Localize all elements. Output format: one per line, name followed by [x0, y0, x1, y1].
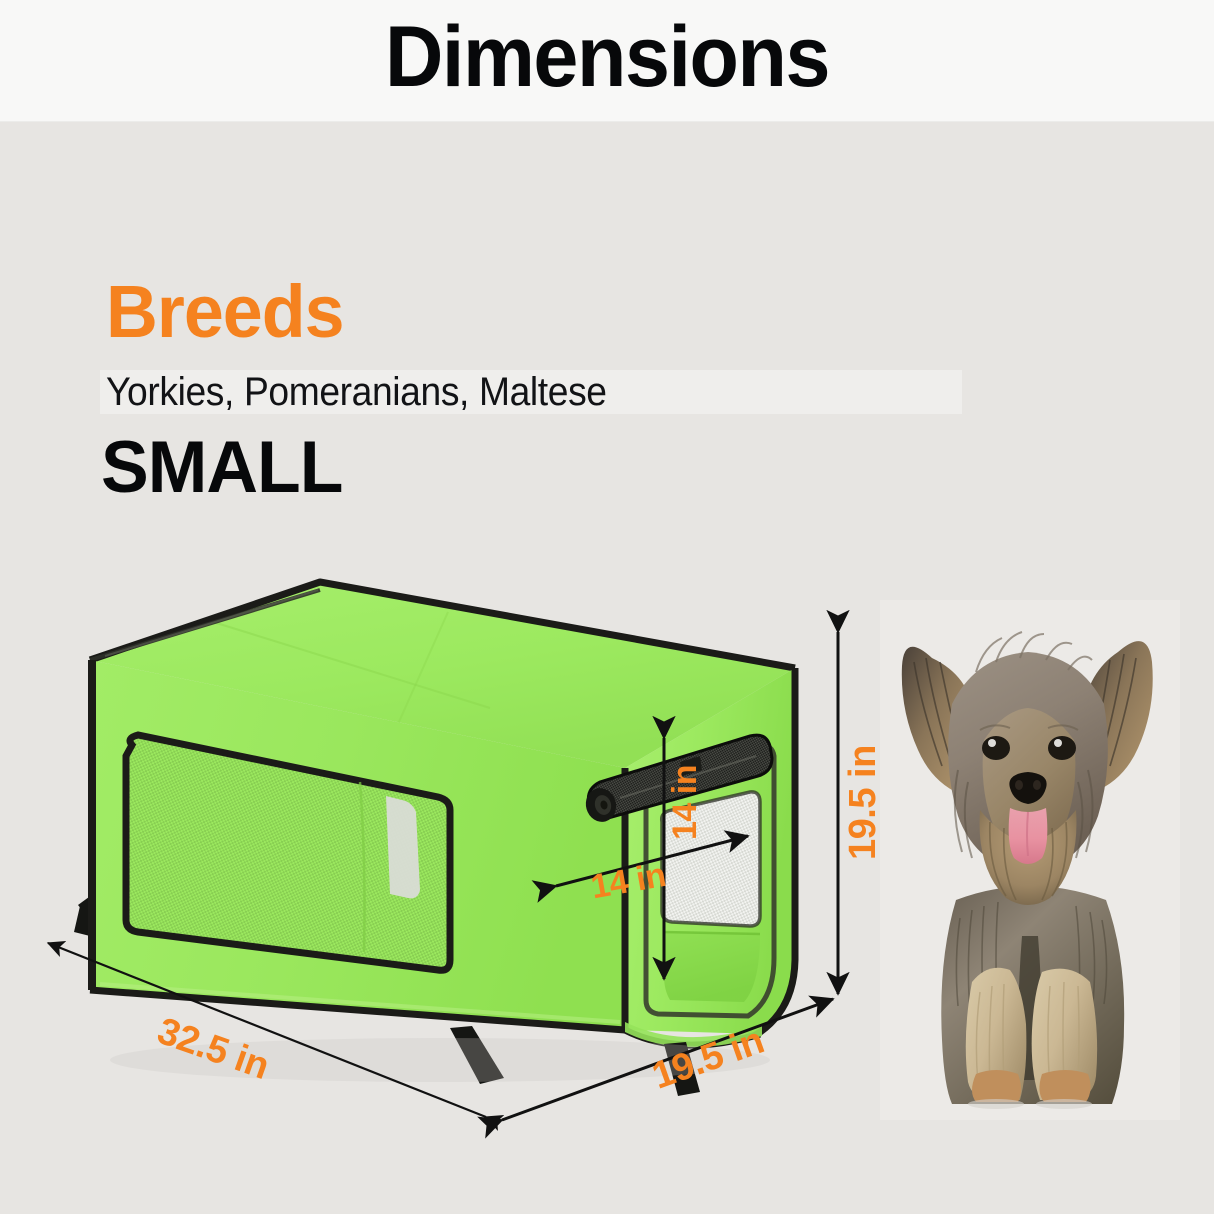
crate-side-window-seethrough	[386, 796, 420, 898]
dog-paw-left	[972, 1070, 1021, 1102]
dog-eye-left	[982, 736, 1010, 760]
product-dimensions-infographic: Dimensions Breeds Yorkies, Pomeranians, …	[0, 0, 1214, 1214]
dog-eye-right	[1048, 736, 1076, 760]
dog-photo	[880, 600, 1180, 1120]
breeds-list: Yorkies, Pomeranians, Maltese	[106, 367, 607, 417]
dimension-label-door-height: 14 in	[666, 765, 705, 840]
breeds-heading: Breeds	[106, 272, 344, 352]
page-title: Dimensions	[36, 8, 1177, 106]
dimension-label-height: 19.5 in	[842, 745, 885, 860]
dog-paw-right	[1039, 1070, 1090, 1102]
crate-interior-floor	[664, 932, 760, 1002]
size-label: SMALL	[101, 425, 342, 511]
